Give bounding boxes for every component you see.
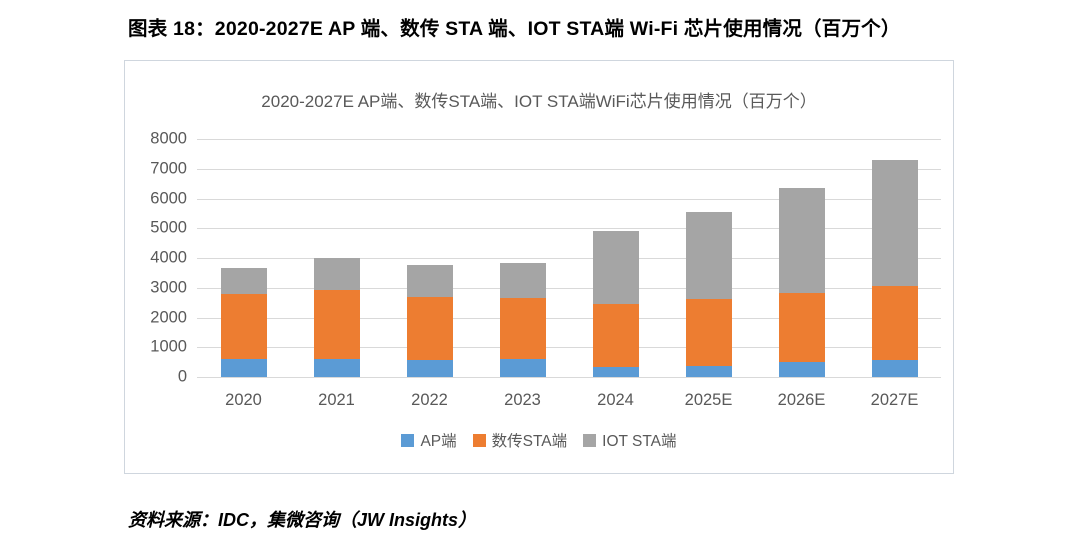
stacked-bar[interactable] <box>221 268 267 377</box>
source-note: 资料来源：IDC，集微咨询（JW Insights） <box>128 506 476 532</box>
plot-area: 800070006000500040003000200010000 202020… <box>197 139 941 377</box>
bar-group[interactable]: 2027E <box>848 139 941 377</box>
bar-group[interactable]: 2021 <box>290 139 383 377</box>
legend-label: IOT STA端 <box>602 429 676 451</box>
legend-item[interactable]: IOT STA端 <box>583 429 676 451</box>
y-axis-tick-label: 0 <box>178 368 187 387</box>
y-axis-tick-label: 4000 <box>150 249 187 268</box>
bar-segment[interactable] <box>872 360 918 377</box>
bar-group[interactable]: 2023 <box>476 139 569 377</box>
bar-segment[interactable] <box>593 231 639 304</box>
bar-series-container: 202020212022202320242025E2026E2027E <box>197 139 941 377</box>
y-axis-tick-label: 8000 <box>150 130 187 149</box>
x-axis-tick-label: 2026E <box>778 391 826 410</box>
y-axis-tick-label: 1000 <box>150 338 187 357</box>
chart-title: 2020-2027E AP端、数传STA端、IOT STA端WiFi芯片使用情况… <box>125 87 953 112</box>
x-axis-tick-label: 2027E <box>871 391 919 410</box>
chart-panel: 2020-2027E AP端、数传STA端、IOT STA端WiFi芯片使用情况… <box>124 60 954 474</box>
bar-group[interactable]: 2025E <box>662 139 755 377</box>
bar-segment[interactable] <box>686 299 732 366</box>
bar-segment[interactable] <box>593 304 639 366</box>
stacked-bar[interactable] <box>314 258 360 377</box>
stacked-bar[interactable] <box>500 263 546 377</box>
figure-caption: 图表 18：2020-2027E AP 端、数传 STA 端、IOT STA端 … <box>128 12 1028 41</box>
stacked-bar[interactable] <box>872 160 918 377</box>
legend-swatch-icon <box>473 434 486 447</box>
bar-segment[interactable] <box>872 286 918 360</box>
stacked-bar[interactable] <box>407 265 453 377</box>
bar-segment[interactable] <box>407 297 453 360</box>
bar-group[interactable]: 2026E <box>755 139 848 377</box>
bar-segment[interactable] <box>593 367 639 377</box>
bar-group[interactable]: 2022 <box>383 139 476 377</box>
bar-segment[interactable] <box>779 362 825 377</box>
gridline: 0 <box>197 377 941 378</box>
y-axis-tick-label: 3000 <box>150 278 187 297</box>
x-axis-tick-label: 2021 <box>318 391 355 410</box>
legend-item[interactable]: AP端 <box>401 429 456 451</box>
bar-segment[interactable] <box>872 160 918 286</box>
bar-group[interactable]: 2020 <box>197 139 290 377</box>
y-axis-tick-label: 2000 <box>150 308 187 327</box>
x-axis-tick-label: 2020 <box>225 391 262 410</box>
bar-segment[interactable] <box>221 359 267 377</box>
x-axis-tick-label: 2025E <box>685 391 733 410</box>
x-axis-tick-label: 2022 <box>411 391 448 410</box>
legend-label: 数传STA端 <box>492 429 568 451</box>
legend-label: AP端 <box>420 429 456 451</box>
x-axis-tick-label: 2023 <box>504 391 541 410</box>
bar-segment[interactable] <box>314 258 360 290</box>
stacked-bar[interactable] <box>779 188 825 377</box>
bar-group[interactable]: 2024 <box>569 139 662 377</box>
bar-segment[interactable] <box>407 360 453 377</box>
legend-item[interactable]: 数传STA端 <box>473 429 568 451</box>
bar-segment[interactable] <box>779 188 825 293</box>
bar-segment[interactable] <box>500 359 546 377</box>
bar-segment[interactable] <box>221 294 267 359</box>
figure-page: 图表 18：2020-2027E AP 端、数传 STA 端、IOT STA端 … <box>0 0 1078 546</box>
chart-legend: AP端数传STA端IOT STA端 <box>125 429 953 451</box>
bar-segment[interactable] <box>686 366 732 377</box>
legend-swatch-icon <box>401 434 414 447</box>
stacked-bar[interactable] <box>686 212 732 377</box>
bar-segment[interactable] <box>314 359 360 377</box>
bar-segment[interactable] <box>500 263 546 298</box>
bar-segment[interactable] <box>779 293 825 362</box>
bar-segment[interactable] <box>686 212 732 299</box>
x-axis-tick-label: 2024 <box>597 391 634 410</box>
bar-segment[interactable] <box>500 298 546 359</box>
bar-segment[interactable] <box>314 290 360 359</box>
bar-segment[interactable] <box>221 268 267 294</box>
bar-segment[interactable] <box>407 265 453 297</box>
y-axis-tick-label: 5000 <box>150 219 187 238</box>
y-axis-tick-label: 7000 <box>150 159 187 178</box>
y-axis-tick-label: 6000 <box>150 189 187 208</box>
stacked-bar[interactable] <box>593 231 639 377</box>
legend-swatch-icon <box>583 434 596 447</box>
